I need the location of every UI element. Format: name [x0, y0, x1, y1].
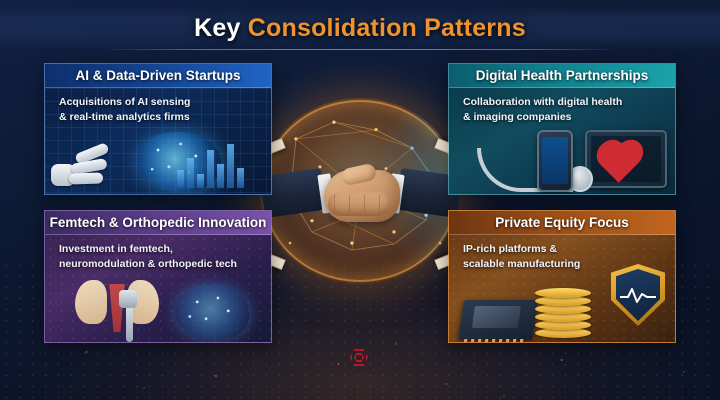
brain-icon — [175, 284, 249, 340]
card-private-equity-header: Private Equity Focus — [449, 211, 675, 235]
card-femtech-header: Femtech & Orthopedic Innovation — [45, 211, 271, 235]
robot-hand-icon — [49, 144, 125, 194]
card-femtech-subtitle-line1: Investment in femtech, — [59, 242, 261, 257]
card-digital-health-subtitle-line2: & imaging companies — [463, 110, 665, 125]
card-ai-title: AI & Data-Driven Startups — [75, 68, 240, 83]
card-digital-health-partnerships[interactable]: Digital Health Partnerships Collaboratio… — [448, 63, 676, 195]
bar-chart-icon — [177, 136, 265, 188]
card-femtech-orthopedic-innovation[interactable]: Femtech & Orthopedic Innovation Investme… — [44, 210, 272, 343]
card-digital-health-header: Digital Health Partnerships — [449, 64, 675, 88]
card-femtech-title: Femtech & Orthopedic Innovation — [50, 215, 267, 230]
heartbeat-line-icon — [620, 286, 656, 304]
card-ai-subtitle-line1: Acquisitions of AI sensing — [59, 95, 261, 110]
infographic-canvas: Key Consolidation Patterns — [0, 0, 720, 400]
hip-implant-icon — [119, 290, 141, 342]
card-ai-subtitle-line2: & real-time analytics firms — [59, 110, 261, 125]
card-digital-health-subtitle: Collaboration with digital health & imag… — [463, 95, 665, 125]
card-private-equity-subtitle-line2: scalable manufacturing — [463, 257, 665, 272]
handshake-fingers — [328, 192, 390, 216]
title-divider — [100, 49, 620, 50]
card-digital-health-title: Digital Health Partnerships — [476, 68, 649, 83]
card-private-equity-subtitle: IP-rich platforms & scalable manufacturi… — [463, 242, 665, 272]
card-femtech-body: Investment in femtech, neuromodulation &… — [45, 235, 271, 342]
page-title-prefix: Key — [194, 14, 248, 42]
card-digital-health-subtitle-line1: Collaboration with digital health — [463, 95, 665, 110]
card-femtech-subtitle-line2: neuromodulation & orthopedic tech — [59, 257, 261, 272]
card-ai-header: AI & Data-Driven Startups — [45, 64, 271, 88]
page-title-accent: Consolidation Patterns — [248, 14, 526, 42]
card-private-equity-subtitle-line1: IP-rich platforms & — [463, 242, 665, 257]
card-private-equity-title: Private Equity Focus — [495, 215, 629, 230]
gold-coins-icon — [535, 282, 595, 338]
card-femtech-subtitle: Investment in femtech, neuromodulation &… — [59, 242, 261, 272]
page-title: Key Consolidation Patterns — [194, 14, 526, 43]
heart-ecg-icon — [605, 144, 639, 174]
microchip-icon — [458, 300, 538, 340]
handshake-icon — [266, 154, 456, 240]
card-digital-health-body: Collaboration with digital health & imag… — [449, 88, 675, 194]
pelvis-anatomy-icon — [75, 280, 159, 342]
tablet-icon — [585, 130, 667, 188]
card-ai-body: Acquisitions of AI sensing & real-time a… — [45, 88, 271, 194]
card-private-equity-focus[interactable]: Private Equity Focus IP-rich platforms &… — [448, 210, 676, 343]
smartphone-icon — [537, 130, 573, 192]
title-bar: Key Consolidation Patterns — [0, 6, 720, 50]
card-ai-subtitle: Acquisitions of AI sensing & real-time a… — [59, 95, 261, 125]
card-ai-data-driven-startups[interactable]: AI & Data-Driven Startups Acquisitions o… — [44, 63, 272, 195]
card-private-equity-body: IP-rich platforms & scalable manufacturi… — [449, 235, 675, 342]
